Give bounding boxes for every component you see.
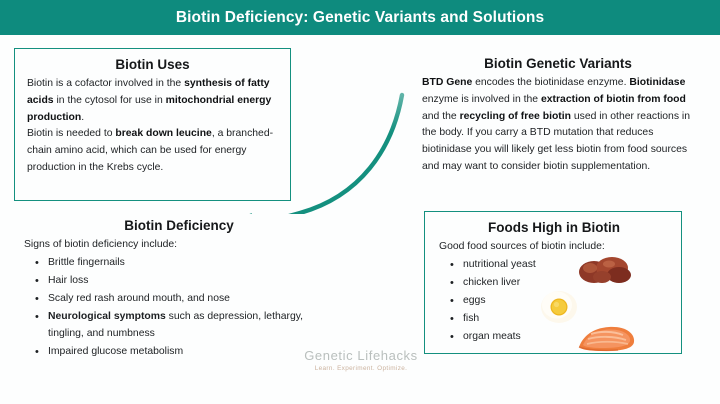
panel-body-biotin-uses: Biotin is a cofactor involved in the syn… [27, 76, 278, 177]
panel-title-biotin-uses: Biotin Uses [27, 57, 278, 74]
panel-title-foods: Foods High in Biotin [437, 220, 671, 237]
panel-biotin-deficiency: Biotin Deficiency Signs of biotin defici… [14, 214, 344, 364]
brand-tagline: Learn. Experiment. Optimize. [281, 365, 441, 372]
salmon-fillet-image [573, 320, 639, 356]
panel-foods-high-in-biotin: Foods High in Biotin Good food sources o… [424, 211, 682, 354]
brand-logo: Genetic Lifehacks Learn. Experiment. Opt… [281, 349, 441, 372]
deficiency-intro: Signs of biotin deficiency include: [22, 237, 336, 253]
header-bar: Biotin Deficiency: Genetic Variants and … [0, 0, 720, 35]
list-item: Brittle fingernails [48, 255, 336, 272]
page-title: Biotin Deficiency: Genetic Variants and … [176, 9, 544, 27]
infographic-canvas: Biotin Deficiency: Genetic Variants and … [0, 0, 720, 404]
list-item: Neurological symptoms such as depression… [48, 309, 336, 343]
chicken-liver-image [572, 254, 634, 288]
deficiency-symptom-list: Brittle fingernailsHair lossScaly red ra… [22, 255, 336, 361]
panel-title-biotin-deficiency: Biotin Deficiency [22, 218, 336, 235]
list-item: Scaly red rash around mouth, and nose [48, 291, 336, 308]
list-item: Hair loss [48, 273, 336, 290]
panel-genetic-variants: Biotin Genetic Variants BTD Gene encodes… [412, 48, 704, 203]
brand-name: Genetic Lifehacks [281, 349, 441, 363]
panel-title-genetic-variants: Biotin Genetic Variants [422, 56, 694, 73]
panel-biotin-uses: Biotin Uses Biotin is a cofactor involve… [14, 48, 291, 201]
list-item: organ meats [463, 329, 671, 346]
panel-body-genetic-variants: BTD Gene encodes the biotinidase enzyme.… [422, 75, 694, 176]
foods-intro: Good food sources of biotin include: [437, 239, 671, 255]
list-item: nutritional yeast [463, 257, 671, 274]
